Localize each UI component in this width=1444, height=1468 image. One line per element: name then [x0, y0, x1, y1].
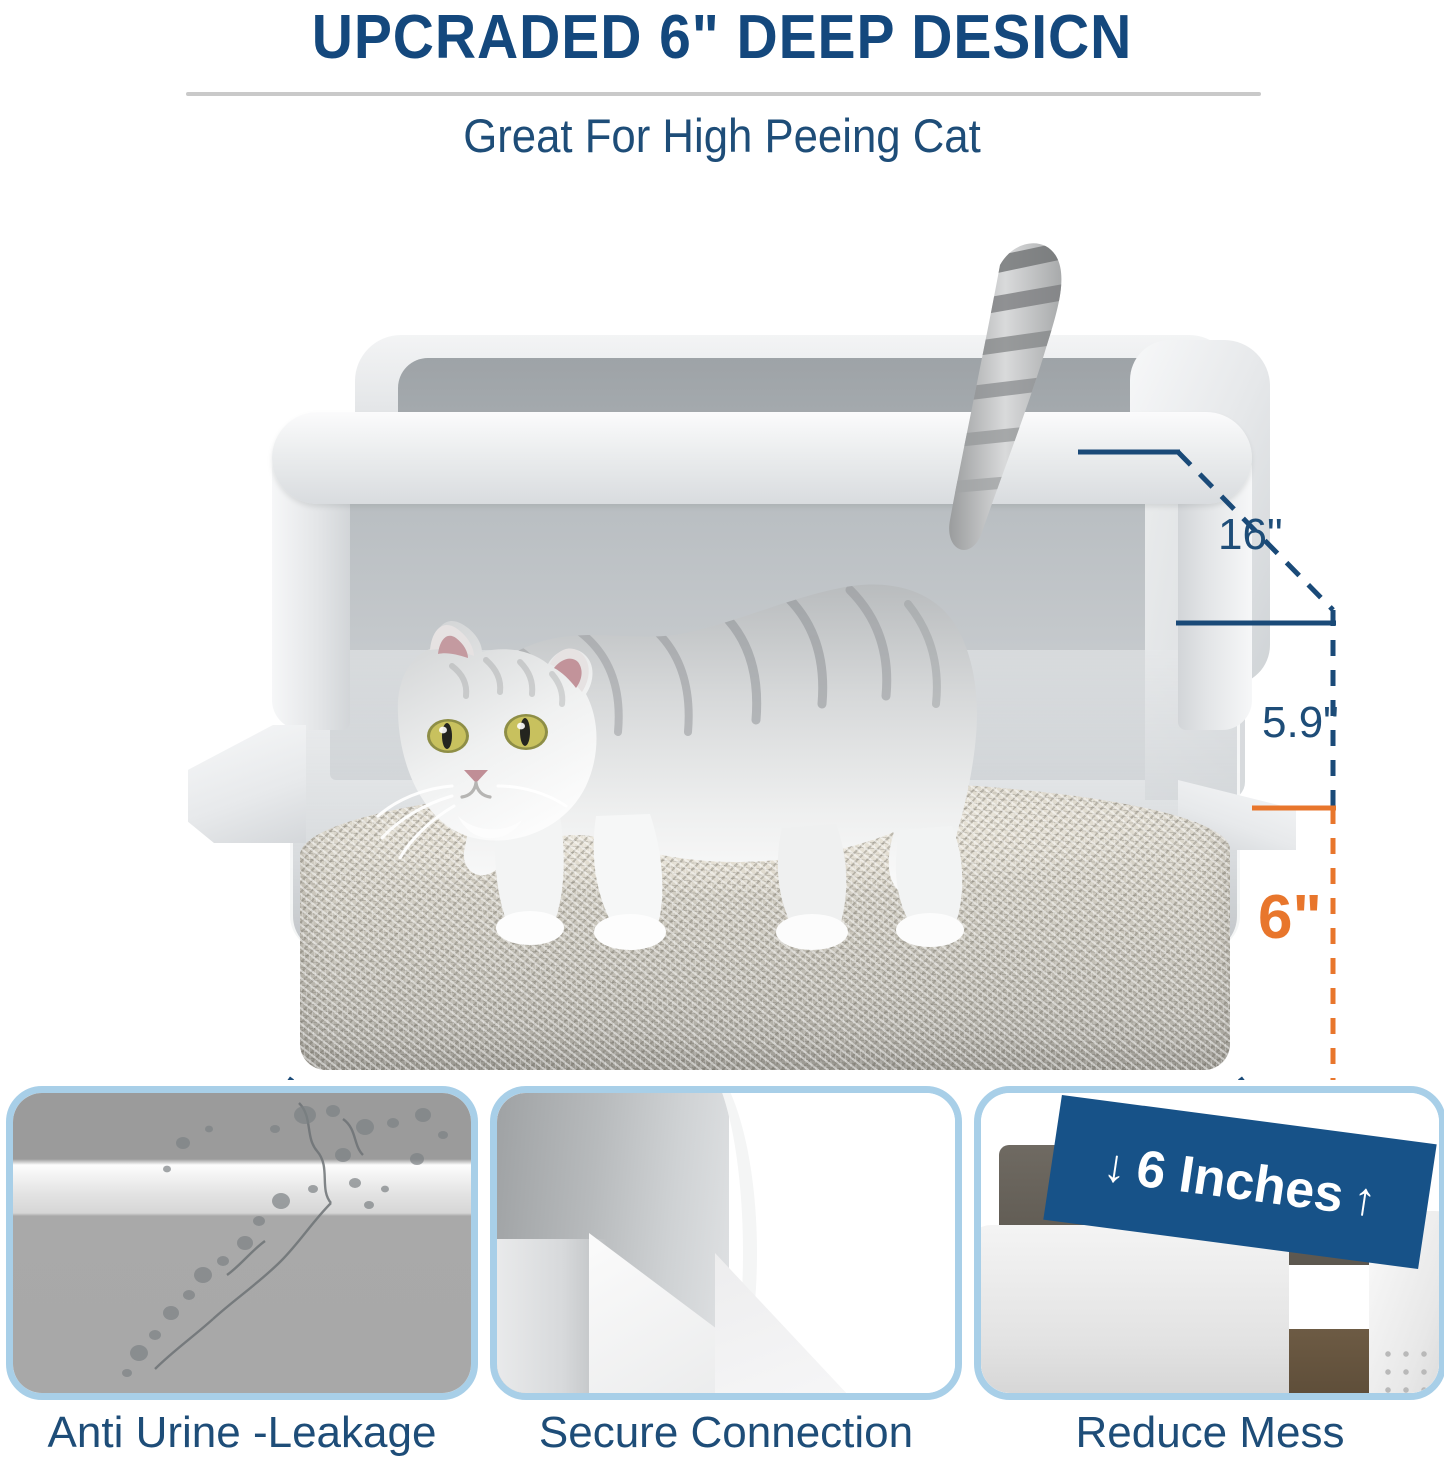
- feature-caption-reduce-mess: Reduce Mess: [974, 1408, 1444, 1458]
- arrow-down-icon: ↓: [1101, 1141, 1131, 1190]
- feature-caption-secure-connection: Secure Connection: [490, 1408, 962, 1458]
- title-divider: [186, 92, 1261, 96]
- feature-panel-secure-connection[interactable]: [490, 1086, 962, 1400]
- dimension-annotations: [0, 180, 1444, 1080]
- feature-caption-anti-urine-leakage: Anti Urine -Leakage: [6, 1408, 478, 1458]
- feature-panel-anti-urine-leakage[interactable]: [6, 1086, 478, 1400]
- page-subtitle: Great For High Peeing Cat: [51, 108, 1394, 163]
- feature-panel-reduce-mess[interactable]: ↓ 6 Inches ↑: [974, 1086, 1444, 1400]
- dimension-label-height: 5.9": [1262, 698, 1339, 748]
- dimension-label-wall: 6": [1258, 882, 1322, 953]
- six-inches-badge-text: 6 Inches: [1132, 1139, 1347, 1226]
- feature-panels: Anti Urine -Leakage Secure Connection ↓ …: [0, 1086, 1444, 1468]
- infographic-page: UPCRADED 6" DEEP DESICN Great For High P…: [0, 0, 1444, 1468]
- page-title: UPCRADED 6" DEEP DESICN: [58, 2, 1386, 73]
- litter-box-front-wall: [974, 1225, 1289, 1400]
- dimension-label-depth: 16": [1218, 510, 1283, 560]
- litter-box-grate-texture: [1379, 1345, 1444, 1400]
- product-hero-stage: 16" 5.9" 6" 23.6": [0, 180, 1444, 1080]
- water-splash-icon: [13, 1093, 478, 1400]
- arrow-up-icon: ↑: [1350, 1174, 1380, 1223]
